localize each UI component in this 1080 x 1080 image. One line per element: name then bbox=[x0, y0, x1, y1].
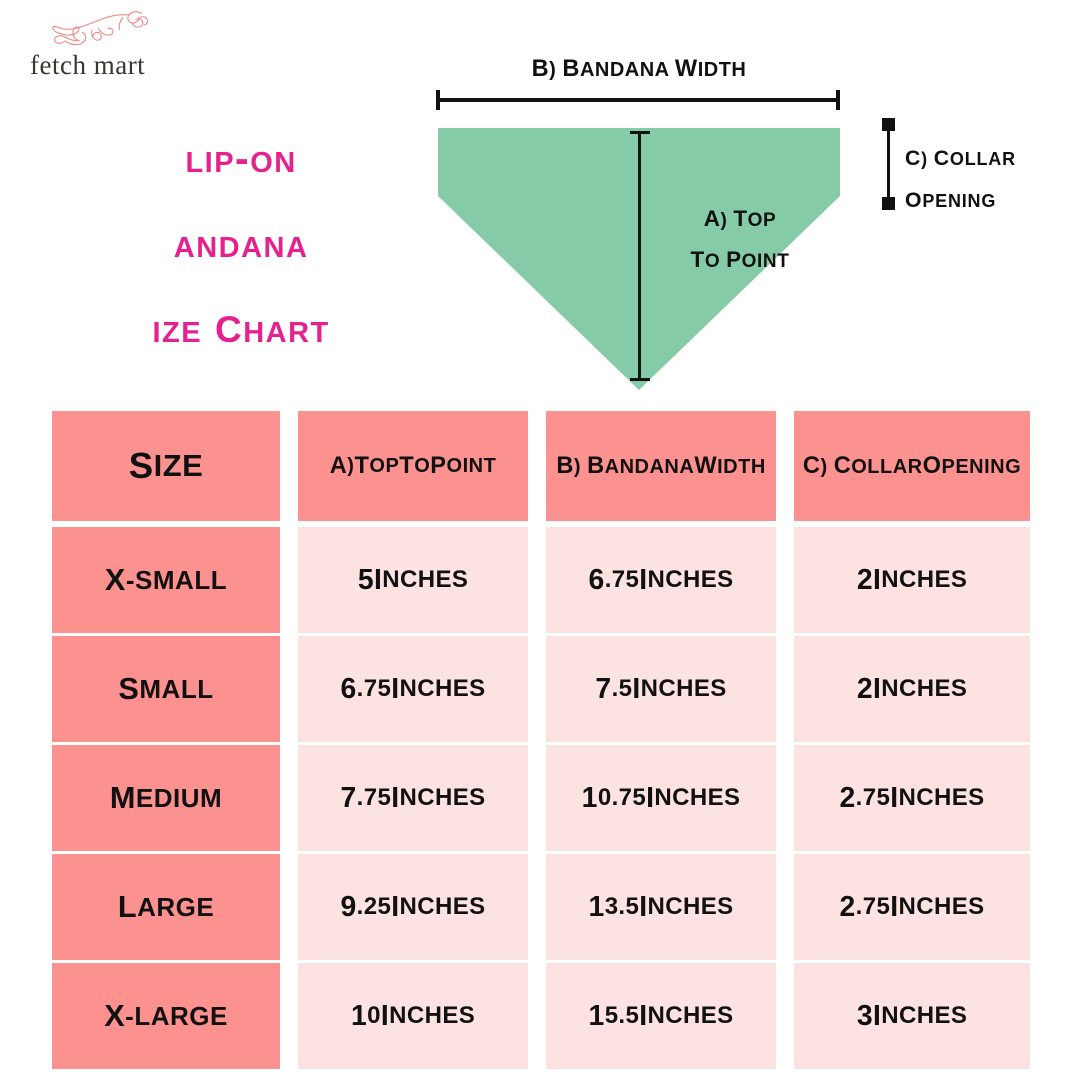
table-row: X-LARGE10 INCHES15.5 INCHES3 INCHES bbox=[52, 963, 1030, 1069]
row-size-label: X-SMALL bbox=[52, 527, 280, 633]
table-header-row: SIZE A) TOP TO POINT B) BANDANA WIDTH C)… bbox=[52, 411, 1030, 521]
diagram-label-collar-opening-line-1: C) COLLAR bbox=[905, 137, 1065, 179]
dimension-cap-bottom bbox=[630, 378, 650, 381]
row-size-label: X-LARGE bbox=[52, 963, 280, 1069]
dimension-line-top-to-point bbox=[630, 131, 650, 381]
row-size-label: LARGE bbox=[52, 854, 280, 960]
row-bandana-width-value: 13.5 INCHES bbox=[546, 854, 776, 960]
row-size-label: MEDIUM bbox=[52, 745, 280, 851]
column-header-size: SIZE bbox=[52, 411, 280, 521]
row-top-to-point-value: 9.25 INCHES bbox=[298, 854, 528, 960]
row-collar-opening-value: 2 INCHES bbox=[794, 527, 1030, 633]
dimension-bar bbox=[638, 131, 641, 381]
column-header-bandana-width-line-2: WIDTH bbox=[694, 448, 765, 485]
row-collar-opening-value: 2.75 INCHES bbox=[794, 854, 1030, 960]
table-row: SMALL6.75 INCHES7.5 INCHES2 INCHES bbox=[52, 636, 1030, 742]
dimension-bar bbox=[436, 98, 840, 102]
column-header-top-to-point: A) TOP TO POINT bbox=[298, 411, 528, 521]
row-bandana-width-value: 15.5 INCHES bbox=[546, 963, 776, 1069]
diagram-label-top-to-point-line-1: A) TOP bbox=[655, 198, 825, 239]
row-top-to-point-value: 5 INCHES bbox=[298, 527, 528, 633]
row-top-to-point-value: 7.75 INCHES bbox=[298, 745, 528, 851]
row-size-label: SMALL bbox=[52, 636, 280, 742]
column-header-collar-opening-line-2: OPENING bbox=[923, 448, 1022, 485]
dimension-line-collar-opening bbox=[882, 118, 896, 210]
row-collar-opening-value: 2.75 INCHES bbox=[794, 745, 1030, 851]
row-top-to-point-value: 10 INCHES bbox=[298, 963, 528, 1069]
row-bandana-width-value: 7.5 INCHES bbox=[546, 636, 776, 742]
column-header-bandana-width-line-1: B) BANDANA bbox=[556, 448, 694, 485]
row-bandana-width-value: 6.75 INCHES bbox=[546, 527, 776, 633]
diagram-label-top-to-point: A) TOP TO POINT bbox=[655, 198, 825, 281]
column-header-bandana-width: B) BANDANA WIDTH bbox=[546, 411, 776, 521]
table-row: LARGE9.25 INCHES13.5 INCHES2.75 INCHES bbox=[52, 854, 1030, 960]
row-top-to-point-value: 6.75 INCHES bbox=[298, 636, 528, 742]
row-collar-opening-value: 3 INCHES bbox=[794, 963, 1030, 1069]
diagram-label-top-to-point-line-2: TO POINT bbox=[655, 239, 825, 280]
row-bandana-width-value: 10.75 INCHES bbox=[546, 745, 776, 851]
table-row: X-SMALL5 INCHES6.75 INCHES2 INCHES bbox=[52, 527, 1030, 633]
bandana-diagram: B) BANDANA WIDTH A) TOP TO POINT C) COLL… bbox=[0, 0, 1080, 400]
diagram-label-collar-opening-line-2: OPENING bbox=[905, 179, 1065, 221]
row-collar-opening-value: 2 INCHES bbox=[794, 636, 1030, 742]
diagram-label-bandana-width: B) BANDANA WIDTH bbox=[438, 56, 840, 83]
column-header-collar-opening-line-1: C) COLLAR bbox=[803, 448, 923, 485]
dimension-cap-right bbox=[836, 90, 840, 110]
size-chart-table: SIZE A) TOP TO POINT B) BANDANA WIDTH C)… bbox=[52, 411, 1030, 1069]
column-header-collar-opening: C) COLLAR OPENING bbox=[794, 411, 1030, 521]
dimension-cap-bottom bbox=[882, 197, 895, 210]
dimension-line-bandana-width bbox=[436, 90, 840, 110]
diagram-label-collar-opening: C) COLLAR OPENING bbox=[905, 137, 1065, 222]
table-row: MEDIUM7.75 INCHES10.75 INCHES2.75 INCHES bbox=[52, 745, 1030, 851]
